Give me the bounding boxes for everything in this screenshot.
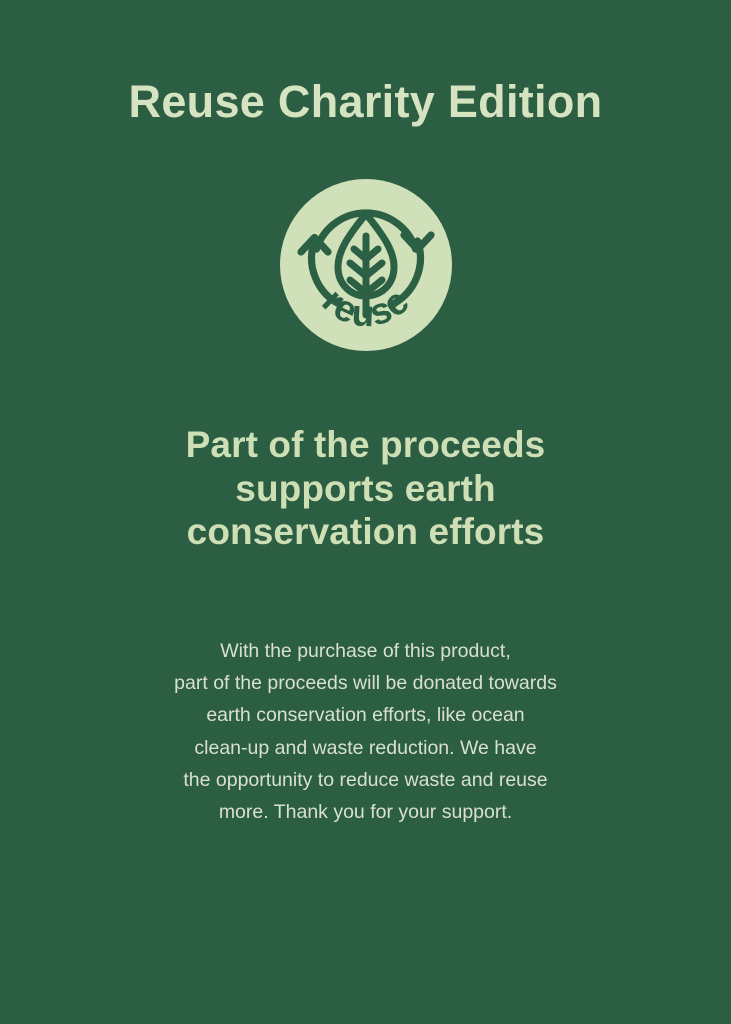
- body-line-1: With the purchase of this product,: [174, 635, 557, 667]
- body-line-3: earth conservation efforts, like ocean: [174, 699, 557, 731]
- reuse-badge: reuse: [280, 179, 452, 351]
- page-title: Reuse Charity Edition: [129, 78, 603, 125]
- body-line-6: more. Thank you for your support.: [174, 796, 557, 828]
- body-line-2: part of the proceeds will be donated tow…: [174, 667, 557, 699]
- body-line-4: clean-up and waste reduction. We have: [174, 732, 557, 764]
- body-line-5: the opportunity to reduce waste and reus…: [174, 764, 557, 796]
- reuse-badge-graphic: reuse: [280, 179, 452, 351]
- charity-edition-card: Reuse Charity Edition: [0, 0, 731, 1024]
- main-heading-line-2: supports earth: [186, 467, 546, 510]
- main-heading: Part of the proceeds supports earth cons…: [186, 423, 546, 553]
- body-paragraph: With the purchase of this product, part …: [174, 635, 557, 828]
- main-heading-line-3: conservation efforts: [186, 510, 546, 553]
- main-heading-line-1: Part of the proceeds: [186, 423, 546, 466]
